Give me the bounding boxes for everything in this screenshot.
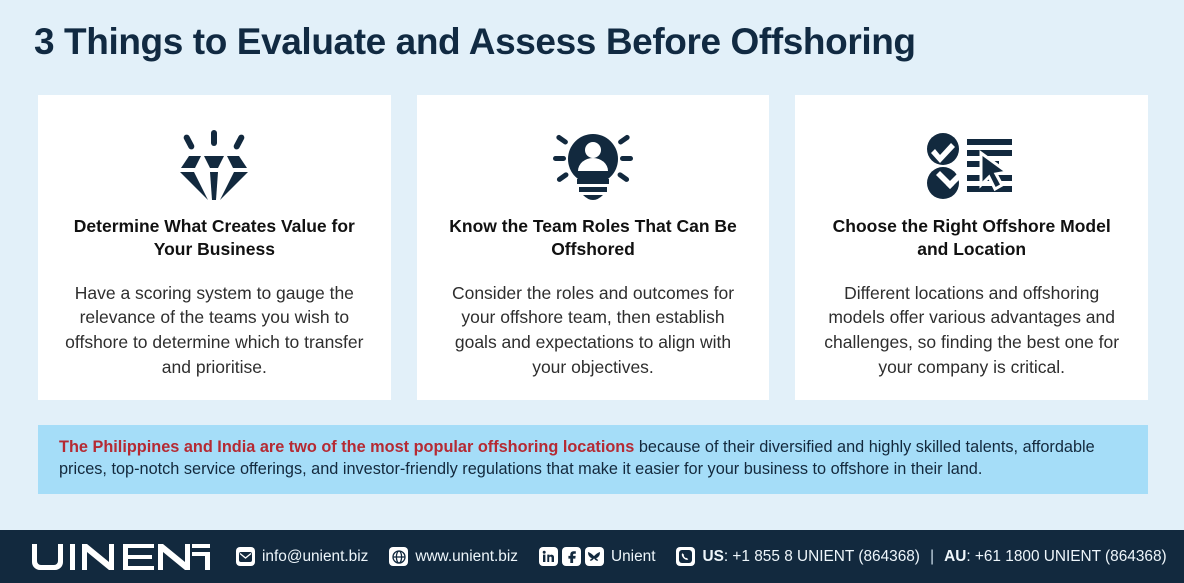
card-title: Determine What Creates Value for Your Bu…: [60, 215, 369, 261]
infographic-page: 3 Things to Evaluate and Assess Before O…: [0, 0, 1184, 583]
us-phone: : +1 855 8 UNIENT (864368): [724, 548, 920, 566]
website-text: www.unient.biz: [415, 548, 518, 566]
bluesky-icon[interactable]: [585, 547, 604, 566]
card-body: Consider the roles and outcomes for your…: [439, 281, 748, 380]
phone-separator: |: [930, 548, 934, 566]
page-title: 3 Things to Evaluate and Assess Before O…: [34, 22, 1154, 63]
email-contact[interactable]: info@unient.biz: [236, 547, 368, 566]
card-offshore-model: Choose the Right Offshore Model and Loca…: [795, 95, 1148, 400]
footer-contacts: info@unient.biz www.unient.biz: [236, 547, 1167, 566]
unient-logo: [32, 544, 210, 570]
footer-bar: info@unient.biz www.unient.biz: [0, 530, 1184, 583]
phone-contacts[interactable]: US : +1 855 8 UNIENT (864368) | AU : +61…: [676, 547, 1166, 566]
website-contact[interactable]: www.unient.biz: [389, 547, 518, 566]
phone-icon: [676, 547, 695, 566]
social-handle: Unient: [611, 548, 656, 566]
card-team-roles: Know the Team Roles That Can Be Offshore…: [417, 95, 770, 400]
card-body: Different locations and offshoring model…: [817, 281, 1126, 380]
au-label: AU: [944, 548, 966, 566]
card-title: Choose the Right Offshore Model and Loca…: [817, 215, 1126, 261]
lightbulb-person-icon: [553, 121, 633, 211]
us-label: US: [702, 548, 723, 566]
diamond-icon: [175, 121, 253, 211]
cards-row: Determine What Creates Value for Your Bu…: [38, 95, 1148, 400]
card-body: Have a scoring system to gauge the relev…: [60, 281, 369, 380]
card-determine-value: Determine What Creates Value for Your Bu…: [38, 95, 391, 400]
email-icon: [236, 547, 255, 566]
linkedin-icon[interactable]: [539, 547, 558, 566]
social-links[interactable]: Unient: [539, 547, 656, 566]
card-title: Know the Team Roles That Can Be Offshore…: [439, 215, 748, 261]
globe-icon: [389, 547, 408, 566]
callout-box: The Philippines and India are two of the…: [38, 425, 1148, 494]
callout-highlight: The Philippines and India are two of the…: [59, 438, 634, 456]
email-text: info@unient.biz: [262, 548, 368, 566]
au-phone: : +61 1800 UNIENT (864368): [966, 548, 1166, 566]
checklist-cursor-icon: [926, 121, 1018, 211]
facebook-icon[interactable]: [562, 547, 581, 566]
